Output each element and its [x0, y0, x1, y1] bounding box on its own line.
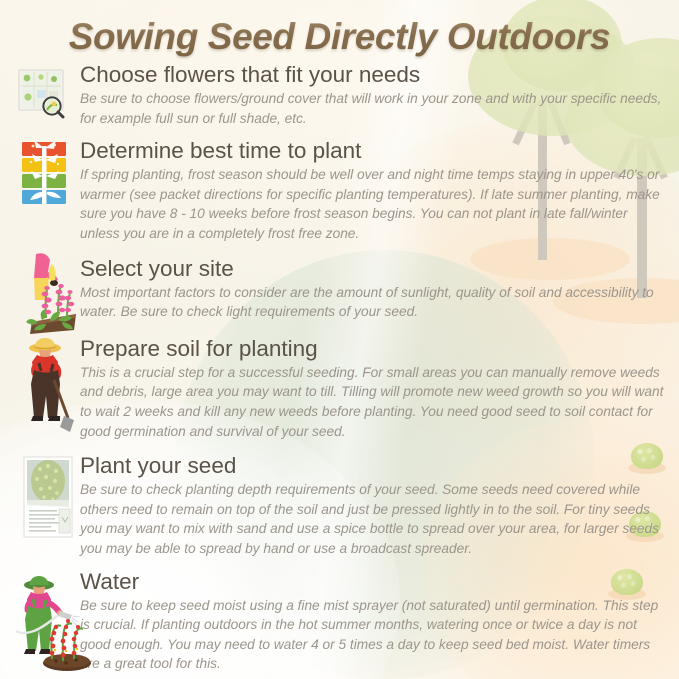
step-icon-column: [12, 256, 78, 257]
step-icon-column: [12, 336, 78, 337]
steps-list: Choose flowers that fit your needs Be su…: [0, 62, 679, 679]
step-text-column: Determine best time to plant If spring p…: [78, 138, 665, 243]
gardener-with-flower-planter-icon: [18, 252, 80, 336]
step-icon-column: [12, 62, 78, 63]
step-item: Determine best time to plant If spring p…: [0, 138, 679, 243]
garden-plan-map-icon: [14, 64, 74, 124]
page-title: Sowing Seed Directly Outdoors: [0, 16, 679, 58]
step-item: Select your site Most important factors …: [0, 256, 679, 322]
seed-packet-icon: [22, 455, 76, 541]
gardener-with-shovel-icon: [20, 336, 78, 434]
infographic-poster: Sowing Seed Directly Outdoors: [0, 0, 679, 679]
step-heading: Water: [80, 569, 665, 595]
gardener-watering-icon: [16, 573, 94, 673]
step-body: Be sure to keep seed moist using a fine …: [80, 596, 665, 674]
step-body: Be sure to choose flowers/ground cover t…: [80, 89, 665, 128]
step-item: Choose flowers that fit your needs Be su…: [0, 62, 679, 128]
step-text-column: Choose flowers that fit your needs Be su…: [78, 62, 665, 128]
step-item: Water Be sure to keep seed moist using a…: [0, 569, 679, 674]
step-item: Plant your seed Be sure to check plantin…: [0, 453, 679, 558]
step-body: This is a crucial step for a successful …: [80, 363, 665, 441]
step-heading: Prepare soil for planting: [80, 336, 665, 362]
step-body: Be sure to check planting depth requirem…: [80, 480, 665, 558]
step-heading: Determine best time to plant: [80, 138, 665, 164]
step-heading: Choose flowers that fit your needs: [80, 62, 665, 88]
step-icon-column: [12, 453, 78, 454]
step-icon-column: [12, 138, 78, 139]
step-text-column: Select your site Most important factors …: [78, 256, 665, 322]
step-heading: Plant your seed: [80, 453, 665, 479]
four-seasons-icon: [22, 142, 68, 208]
step-heading: Select your site: [80, 256, 665, 282]
step-text-column: Water Be sure to keep seed moist using a…: [78, 569, 665, 674]
step-icon-column: [12, 569, 78, 570]
step-body: Most important factors to consider are t…: [80, 283, 665, 322]
step-item: Prepare soil for planting This is a cruc…: [0, 336, 679, 441]
step-body: If spring planting, frost season should …: [80, 165, 665, 243]
step-text-column: Plant your seed Be sure to check plantin…: [78, 453, 665, 558]
step-text-column: Prepare soil for planting This is a cruc…: [78, 336, 665, 441]
